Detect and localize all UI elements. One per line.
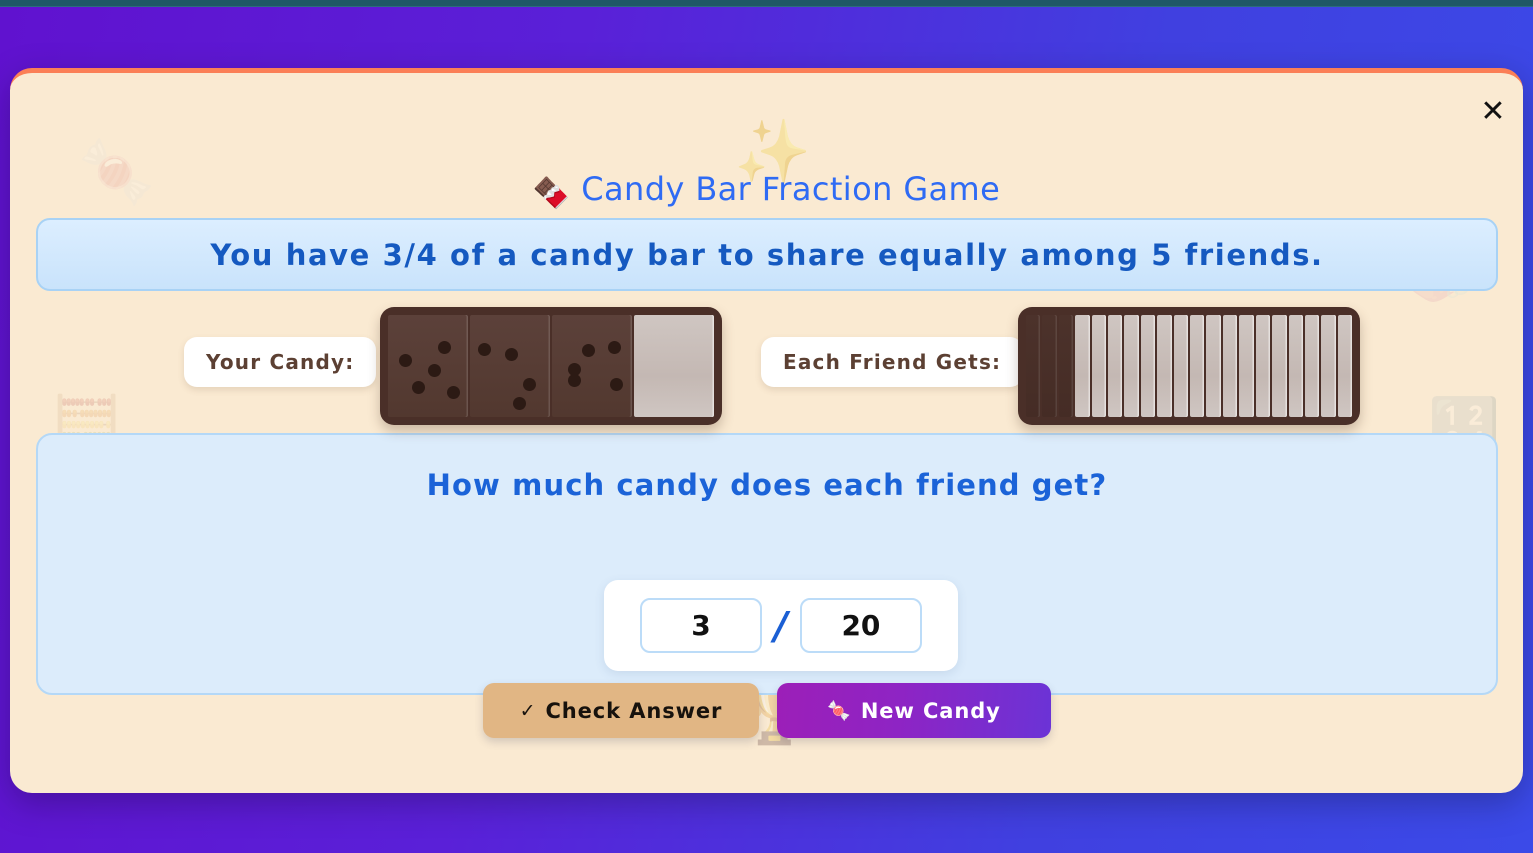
candy-segment[interactable] bbox=[1338, 315, 1352, 417]
denominator-input[interactable] bbox=[800, 598, 922, 653]
candy-cane-icon: 🍬 bbox=[827, 699, 852, 722]
problem-statement-text: You have 3/4 of a candy bar to share equ… bbox=[210, 238, 1323, 272]
your-candy-bar[interactable] bbox=[380, 307, 722, 425]
candy-segment[interactable] bbox=[1174, 315, 1188, 417]
candy-segment[interactable] bbox=[1042, 315, 1056, 417]
chocolate-chip bbox=[568, 374, 581, 387]
chocolate-chip bbox=[438, 341, 451, 354]
candy-segment[interactable] bbox=[388, 315, 468, 417]
chocolate-chip bbox=[399, 354, 412, 367]
new-candy-button[interactable]: 🍬 New Candy bbox=[777, 683, 1051, 738]
your-candy-label: Your Candy: bbox=[184, 337, 376, 387]
candy-segment[interactable] bbox=[1206, 315, 1220, 417]
candy-segment[interactable] bbox=[1108, 315, 1122, 417]
check-answer-label: Check Answer bbox=[545, 699, 722, 723]
chocolate-chip bbox=[447, 386, 460, 399]
new-candy-label: New Candy bbox=[861, 699, 1001, 723]
candy-segment[interactable] bbox=[1075, 315, 1089, 417]
page-title: 🍫 Candy Bar Fraction Game bbox=[10, 170, 1523, 211]
candy-segment[interactable] bbox=[1239, 315, 1253, 417]
problem-statement-banner: You have 3/4 of a candy bar to share equ… bbox=[36, 218, 1498, 291]
chocolate-chip bbox=[608, 341, 621, 354]
candy-segment[interactable] bbox=[1272, 315, 1286, 417]
browser-top-strip bbox=[0, 0, 1533, 7]
candy-bars-region: Your Candy: Each Friend Gets: bbox=[10, 307, 1523, 431]
candy-segment[interactable] bbox=[1026, 315, 1040, 417]
check-answer-button[interactable]: ✓ Check Answer bbox=[483, 683, 759, 738]
chocolate-chip bbox=[582, 344, 595, 357]
chocolate-chip bbox=[610, 378, 623, 391]
chocolate-chip bbox=[478, 343, 491, 356]
candy-segment[interactable] bbox=[1321, 315, 1335, 417]
candy-segment[interactable] bbox=[1289, 315, 1303, 417]
candy-segment[interactable] bbox=[552, 315, 632, 417]
candy-segment[interactable] bbox=[1124, 315, 1138, 417]
numerator-input[interactable] bbox=[640, 598, 762, 653]
candy-segment[interactable] bbox=[1223, 315, 1237, 417]
candy-bar-icon: 🍫 bbox=[533, 176, 570, 211]
action-buttons-row: ✓ Check Answer 🍬 New Candy bbox=[38, 683, 1496, 738]
page-title-text: Candy Bar Fraction Game bbox=[581, 170, 1000, 208]
chocolate-chip bbox=[412, 381, 425, 394]
fraction-slash: / bbox=[774, 604, 788, 648]
candy-segment[interactable] bbox=[470, 315, 550, 417]
chocolate-chip bbox=[505, 348, 518, 361]
candy-segment[interactable] bbox=[1092, 315, 1106, 417]
answer-panel: How much candy does each friend get? / ✓… bbox=[36, 433, 1498, 695]
candy-segment[interactable] bbox=[1157, 315, 1171, 417]
check-icon: ✓ bbox=[520, 700, 537, 722]
candy-segment[interactable] bbox=[1141, 315, 1155, 417]
chocolate-chip bbox=[428, 364, 441, 377]
answer-question-text: How much candy does each friend get? bbox=[38, 468, 1496, 502]
chocolate-chip bbox=[523, 378, 536, 391]
chocolate-chip bbox=[513, 397, 526, 410]
candy-bar-fraction-game-card: 🍬 ✨ 🧼 🧮 🔢 🍬 🍭 🏆 ✕ 🍫 Candy Bar Fraction G… bbox=[10, 68, 1523, 793]
each-friend-gets-bar[interactable] bbox=[1018, 307, 1360, 425]
close-button[interactable]: ✕ bbox=[1473, 91, 1513, 131]
candy-segment[interactable] bbox=[1059, 315, 1073, 417]
candy-segment[interactable] bbox=[1190, 315, 1204, 417]
candy-segment[interactable] bbox=[634, 315, 714, 417]
candy-segment[interactable] bbox=[1305, 315, 1319, 417]
candy-segment[interactable] bbox=[1256, 315, 1270, 417]
close-icon: ✕ bbox=[1480, 94, 1505, 129]
fraction-answer-box: / bbox=[604, 580, 958, 671]
each-friend-gets-label: Each Friend Gets: bbox=[761, 337, 1023, 387]
